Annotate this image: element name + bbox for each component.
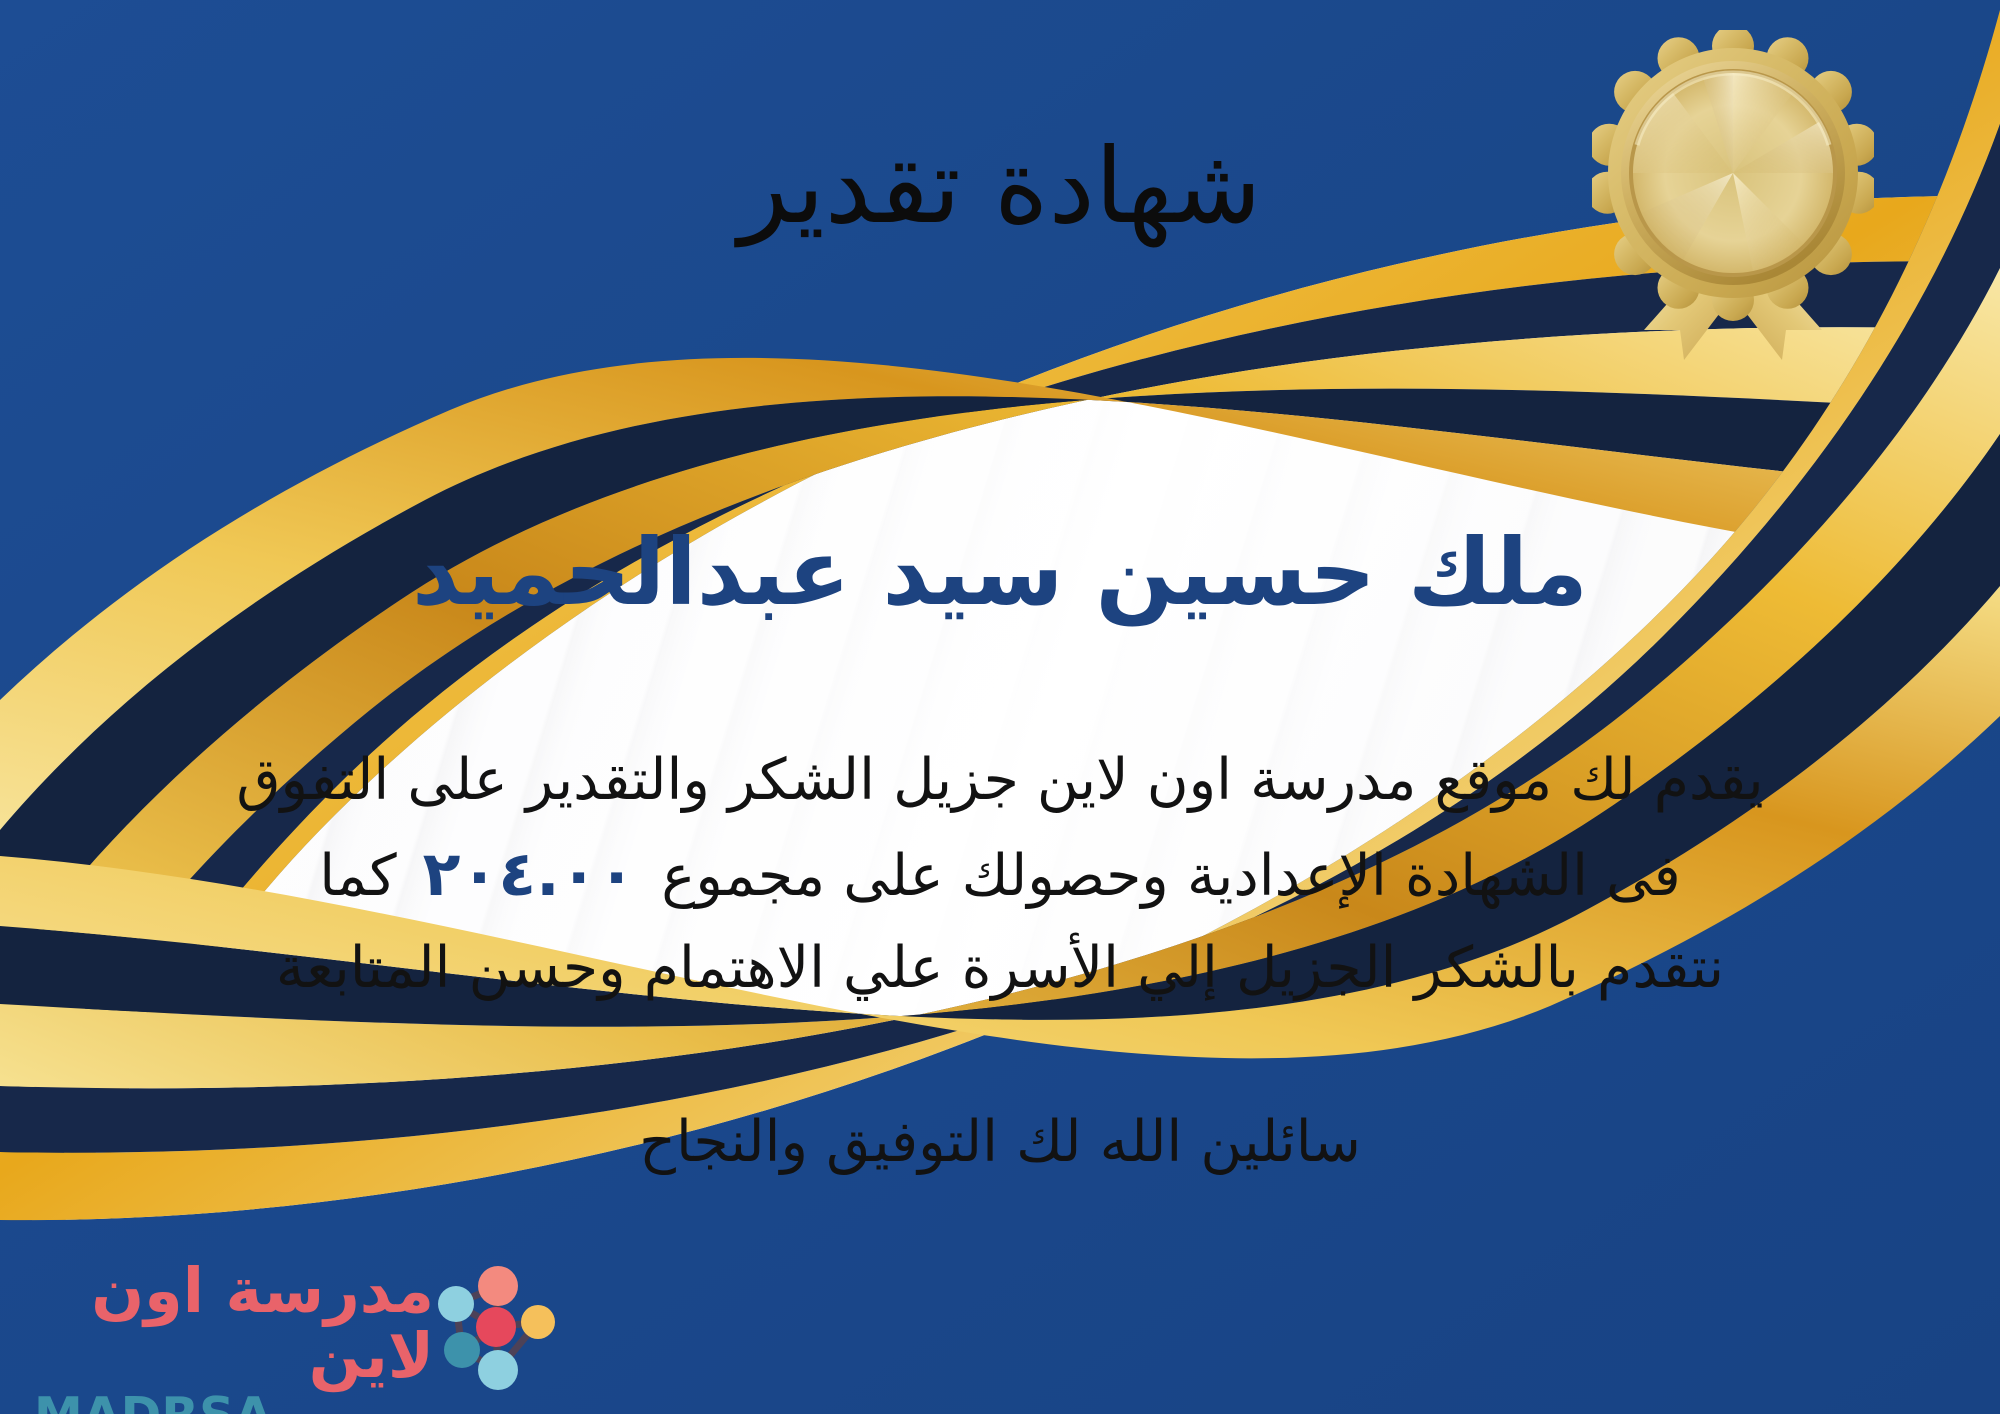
brand-text-group: مدرسة اون لاين MADRSA-ONLINE.COM	[34, 1258, 434, 1414]
page-title: شهادة تقدير	[0, 128, 2000, 244]
closing-wish: سائلين الله لك التوفيق والنجاح	[0, 1100, 2000, 1186]
certificate-canvas: شهادة تقدير ملك حسين سيد عبدالحميد يقدم …	[0, 0, 2000, 1414]
brand-website-url: MADRSA-ONLINE.COM	[34, 1390, 434, 1414]
certificate-content: شهادة تقدير ملك حسين سيد عبدالحميد يقدم …	[0, 0, 2000, 1414]
body-paragraph: يقدم لك موقع مدرسة اون لاين جزيل الشكر و…	[40, 735, 1960, 1013]
recipient-name: ملك حسين سيد عبدالحميد	[0, 518, 2000, 628]
brand-arabic-name: مدرسة اون لاين	[34, 1258, 434, 1388]
body-line-2-prefix: فى الشهادة الإعدادية وحصولك على مجموع	[661, 843, 1680, 909]
total-score-value: ٢٠٤.٠٠	[397, 837, 662, 910]
brand-logo[interactable]: مدرسة اون لاين MADRSA-ONLINE.COM	[28, 1258, 548, 1398]
network-nodes-icon	[426, 1264, 558, 1392]
body-line-1: يقدم لك موقع مدرسة اون لاين جزيل الشكر و…	[40, 735, 1960, 825]
body-line-3: نتقدم بالشكر الجزيل إلي الأسرة علي الاهت…	[40, 923, 1960, 1013]
body-line-2-suffix: كما	[319, 843, 396, 909]
body-line-2: فى الشهادة الإعدادية وحصولك على مجموع٢٠٤…	[40, 825, 1960, 923]
